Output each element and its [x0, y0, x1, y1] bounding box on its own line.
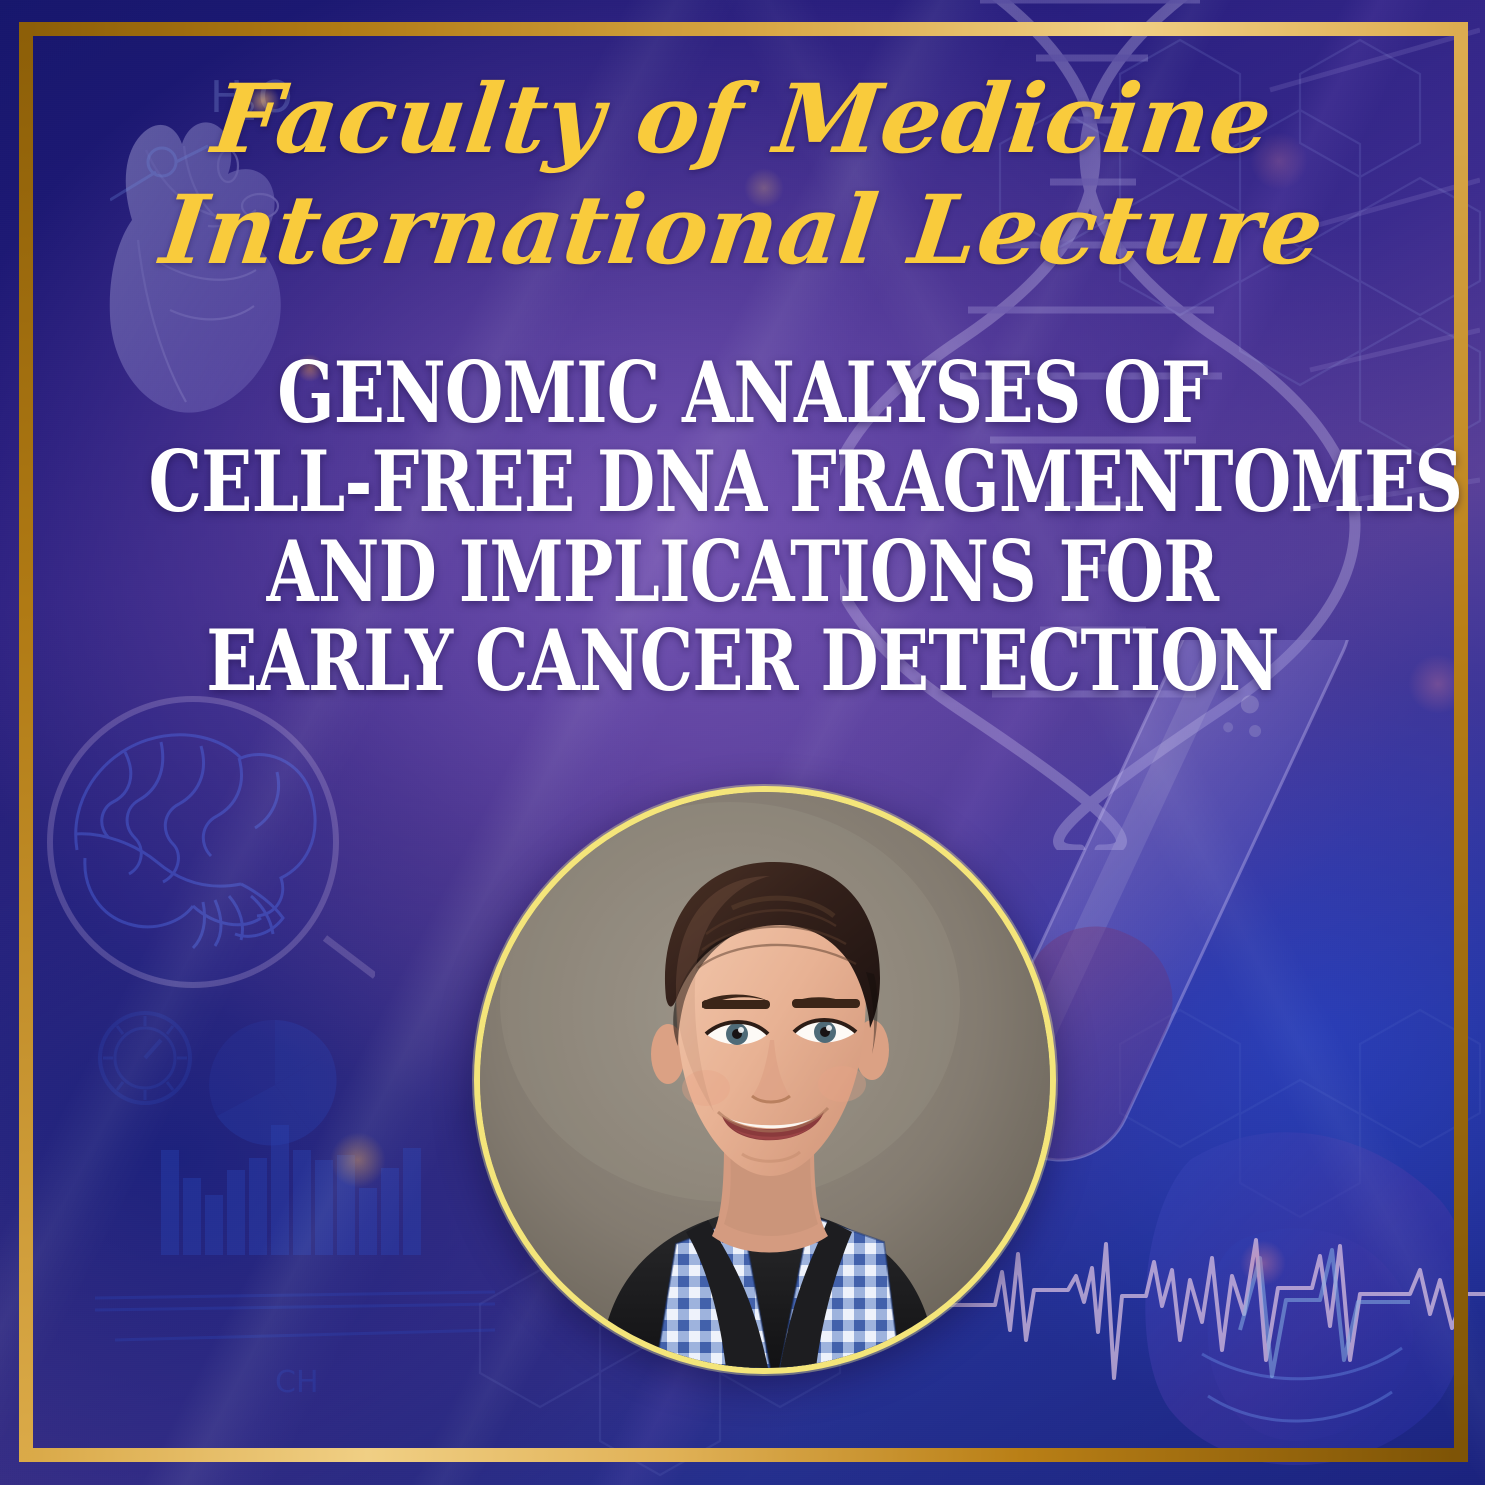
speaker-portrait: [474, 786, 1056, 1374]
speaker-photo-illustration: [480, 792, 1050, 1368]
poster-canvas: CH H 2 O Faculty of Medicine Internation…: [0, 0, 1485, 1485]
event-series-heading: Faculty of Medicine International Lectur…: [0, 72, 1485, 278]
heading-line-1: Faculty of Medicine: [0, 72, 1485, 167]
title-line-3: AND IMPLICATIONS FOR: [149, 531, 1337, 613]
title-line-4: EARLY CANCER DETECTION: [149, 620, 1337, 702]
lecture-title: GENOMIC ANALYSES OF CELL-FREE DNA FRAGME…: [0, 352, 1485, 702]
title-line-2: CELL-FREE DNA FRAGMENTOMES: [149, 441, 1337, 523]
title-line-1: GENOMIC ANALYSES OF: [149, 352, 1337, 434]
heading-line-2: International Lecture: [0, 183, 1485, 278]
